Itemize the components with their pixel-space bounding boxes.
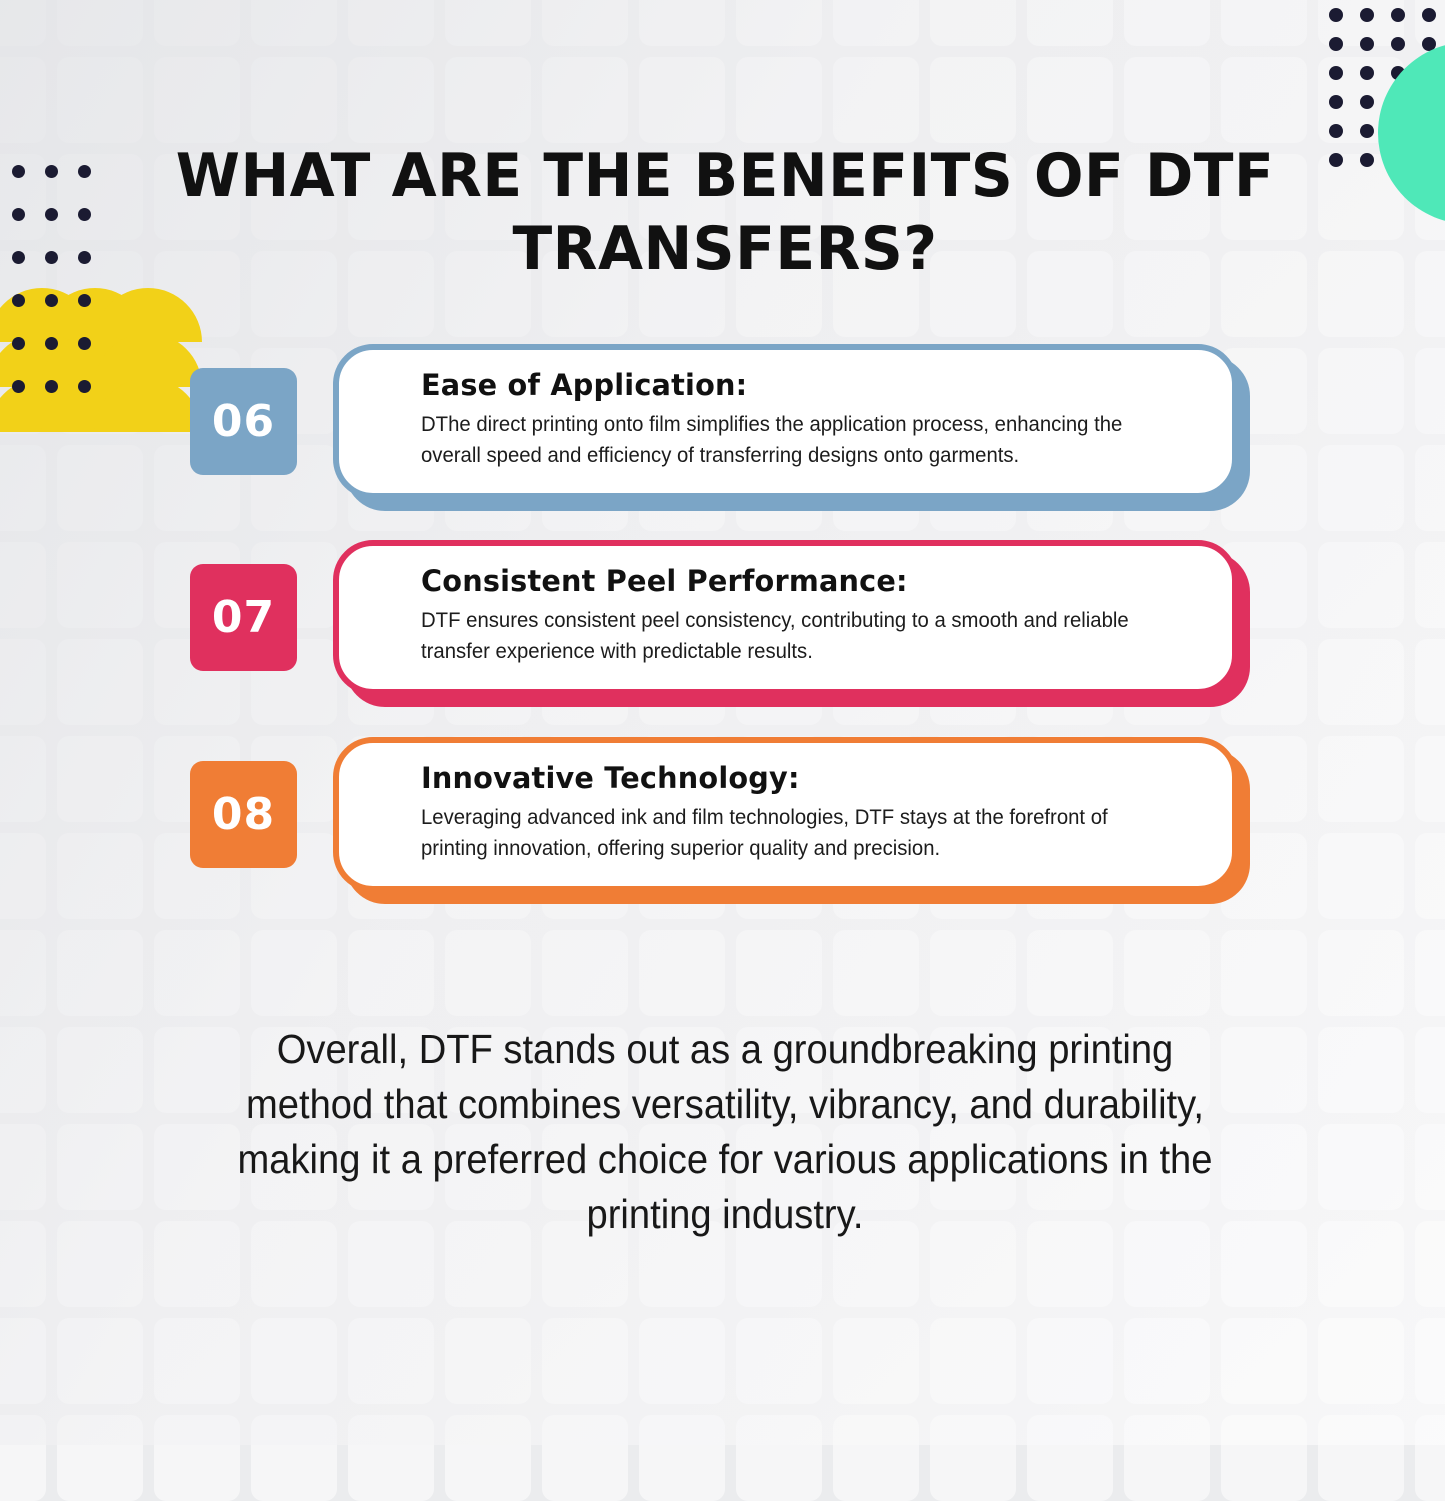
benefit-row: 06 Ease of Application: DThe direct prin… — [0, 340, 1445, 516]
benefit-row: 07 Consistent Peel Performance: DTF ensu… — [0, 536, 1445, 712]
benefit-row: 08 Innovative Technology: Leveraging adv… — [0, 733, 1445, 909]
page-title: WHAT ARE THE BENEFITS OF DTF TRANSFERS? — [167, 140, 1283, 286]
benefit-card-07[interactable]: Consistent Peel Performance: DTF ensures… — [333, 540, 1238, 695]
summary-paragraph: Overall, DTF stands out as a groundbreak… — [209, 1022, 1241, 1242]
benefit-number-label: 08 — [212, 789, 275, 840]
benefit-number-badge-07: 07 — [190, 564, 297, 671]
benefit-card-08[interactable]: Innovative Technology: Leveraging advanc… — [333, 737, 1238, 892]
benefit-number-badge-08: 08 — [190, 761, 297, 868]
benefit-card-body: DThe direct printing onto film simplifie… — [421, 409, 1170, 470]
benefit-card-body: Leveraging advanced ink and film technol… — [421, 802, 1170, 863]
benefit-number-label: 06 — [212, 396, 275, 447]
benefit-card-title: Ease of Application: — [421, 368, 1190, 402]
content-layer: WHAT ARE THE BENEFITS OF DTF TRANSFERS? … — [0, 0, 1445, 1445]
benefit-number-badge-06: 06 — [190, 368, 297, 475]
benefit-number-label: 07 — [212, 592, 275, 643]
benefit-card-title: Consistent Peel Performance: — [421, 564, 1190, 598]
benefit-card-title: Innovative Technology: — [421, 761, 1190, 795]
benefit-card-body: DTF ensures consistent peel consistency,… — [421, 605, 1170, 666]
benefit-card-06[interactable]: Ease of Application: DThe direct printin… — [333, 344, 1238, 499]
